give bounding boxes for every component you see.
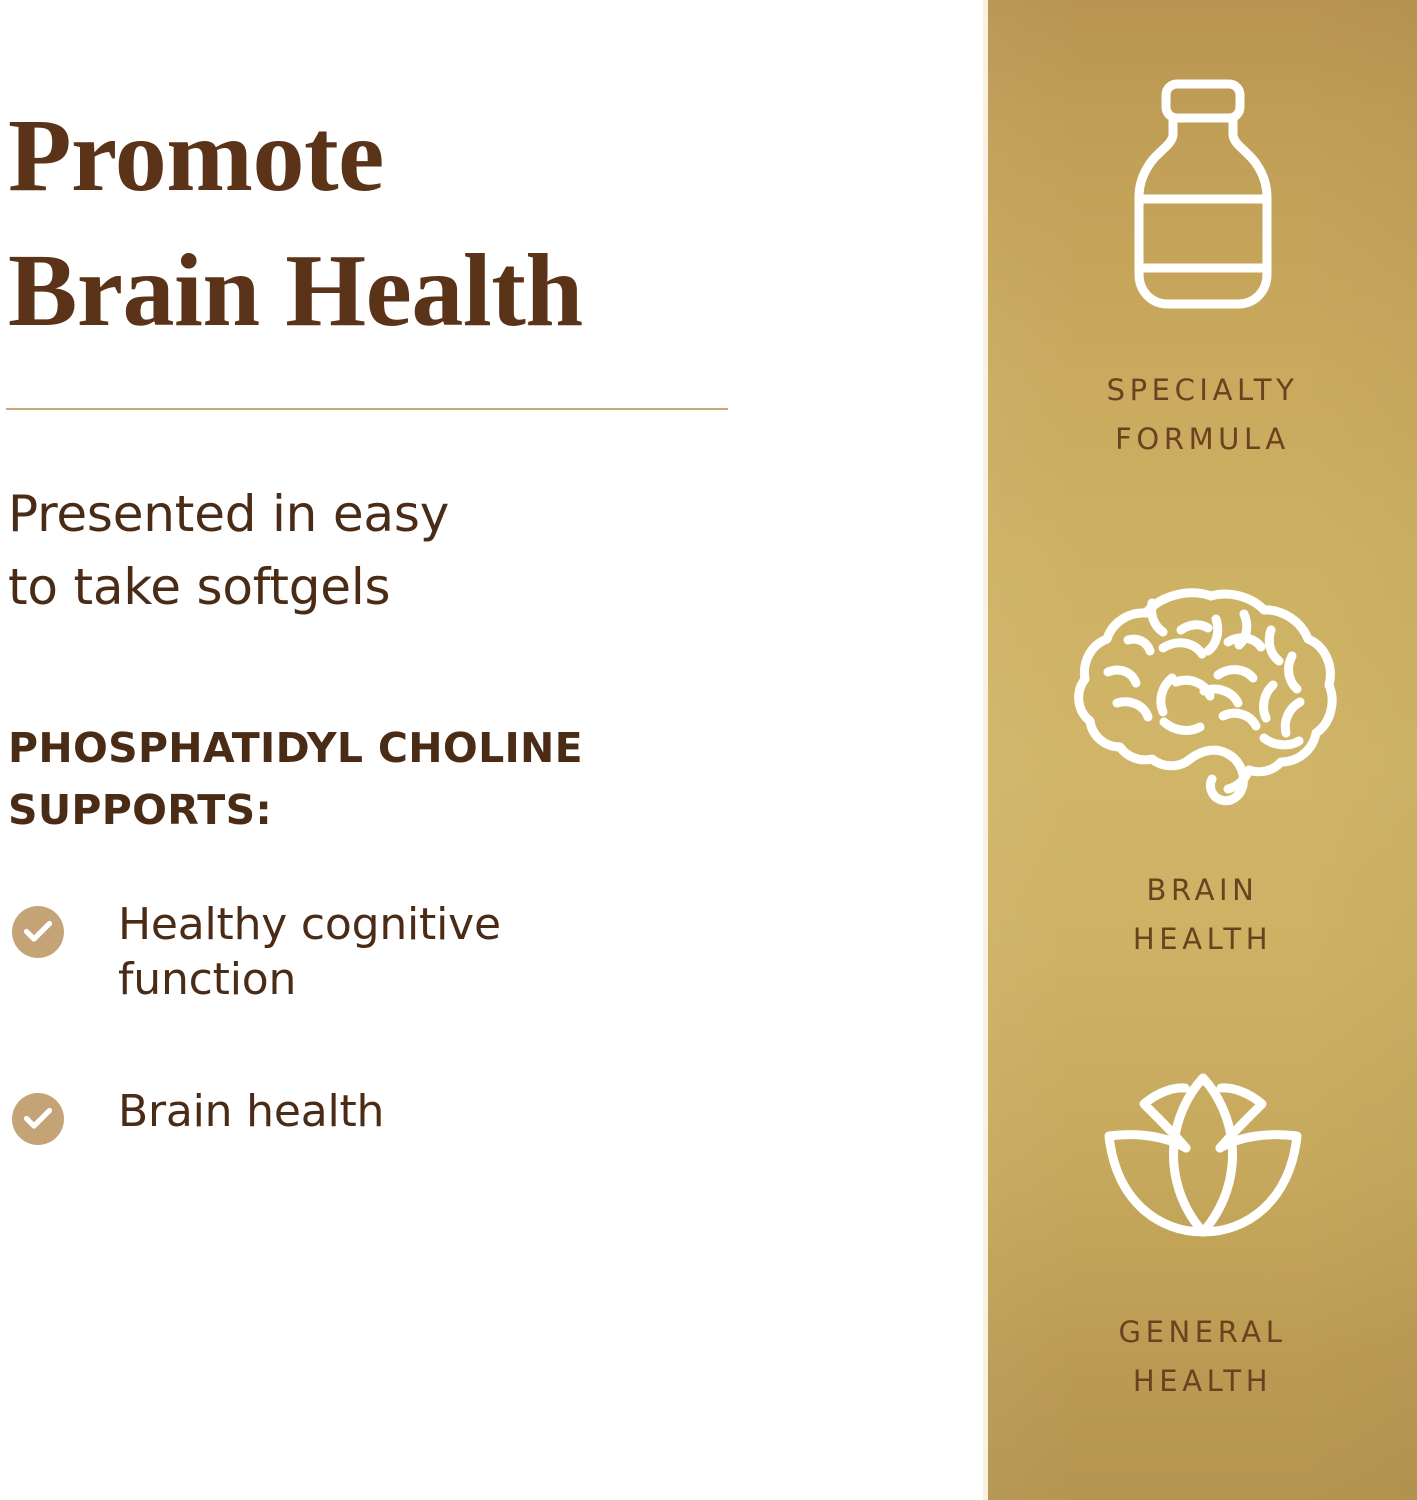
feature-brain-health: BRAIN HEALTH: [988, 582, 1417, 965]
product-benefits-infographic: Promote Brain Health Presented in easy t…: [0, 0, 1417, 1500]
check-icon: [12, 1093, 64, 1145]
divider: [6, 408, 728, 410]
feature-label-line-2: HEALTH: [988, 1357, 1417, 1406]
feature-label: BRAIN HEALTH: [988, 866, 1417, 965]
feature-label-line-2: HEALTH: [988, 915, 1417, 964]
list-item: Brain health: [12, 1085, 772, 1145]
feature-label-line-1: SPECIALTY: [988, 366, 1417, 415]
supports-heading: PHOSPHATIDYL CHOLINE SUPPORTS:: [8, 718, 788, 841]
feature-general-health: GENERAL HEALTH: [988, 1062, 1417, 1407]
check-icon: [12, 906, 64, 958]
supports-heading-line-2: SUPPORTS:: [8, 780, 788, 842]
page-title: Promote Brain Health: [8, 88, 908, 358]
feature-label-line-1: GENERAL: [988, 1308, 1417, 1357]
feature-label-line-1: BRAIN: [988, 866, 1417, 915]
feature-panel: SPECIALTY FORMULA: [988, 0, 1417, 1500]
subheadline-line-2: to take softgels: [8, 551, 728, 624]
supports-heading-line-1: PHOSPHATIDYL CHOLINE: [8, 718, 788, 780]
supplement-bottle-icon: [1120, 78, 1286, 310]
feature-label-line-2: FORMULA: [988, 415, 1417, 464]
benefit-label: Healthy cognitive function: [118, 898, 638, 1007]
subheadline: Presented in easy to take softgels: [8, 478, 728, 624]
subheadline-line-1: Presented in easy: [8, 478, 728, 551]
left-content-column: Promote Brain Health Presented in easy t…: [0, 0, 985, 1500]
benefits-list: Healthy cognitive function Brain health: [12, 898, 772, 1223]
feature-specialty-formula: SPECIALTY FORMULA: [988, 78, 1417, 465]
feature-label: GENERAL HEALTH: [988, 1308, 1417, 1407]
brain-icon: [1068, 582, 1338, 808]
feature-label: SPECIALTY FORMULA: [988, 366, 1417, 465]
list-item: Healthy cognitive function: [12, 898, 772, 1007]
page-title-line-2: Brain Health: [8, 223, 908, 358]
lotus-flower-icon: [1088, 1062, 1318, 1252]
benefit-label: Brain health: [118, 1085, 384, 1140]
page-title-line-1: Promote: [8, 88, 908, 223]
